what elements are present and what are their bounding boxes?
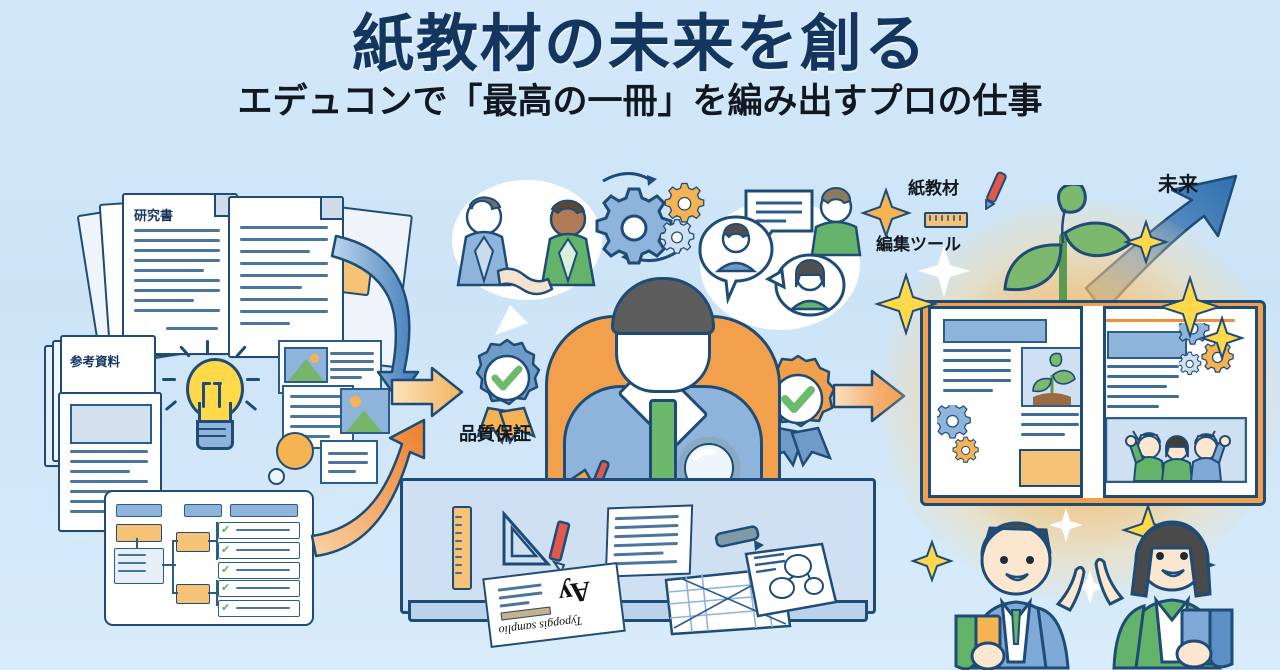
paper-material-label: 紙教材 bbox=[908, 174, 959, 199]
image-placeholder-card bbox=[340, 388, 390, 434]
cheering-students-photo bbox=[1105, 417, 1247, 483]
page-title: 紙教材の未来を創る bbox=[0, 12, 1280, 77]
content-card-bottom bbox=[320, 440, 378, 484]
research-document-label: 研究書 bbox=[134, 205, 173, 224]
orange-dot-small bbox=[268, 468, 285, 485]
open-book-icon bbox=[920, 300, 1260, 500]
student-female-icon bbox=[1090, 494, 1250, 670]
document-sheet-front-2 bbox=[228, 196, 344, 358]
page-subtitle: エデュコンで「最高の一冊」を編み出すプロの仕事 bbox=[0, 83, 1280, 122]
student-male-icon bbox=[940, 498, 1090, 670]
book-page-left bbox=[928, 306, 1094, 498]
lightbulb-icon bbox=[172, 352, 252, 462]
typography-letters: Ay bbox=[557, 574, 593, 610]
book-spine bbox=[1080, 306, 1106, 498]
reference-label: 参考資料 bbox=[70, 351, 120, 370]
pen-icon bbox=[978, 168, 1018, 210]
ruler-icon bbox=[452, 506, 472, 590]
pencil-icon bbox=[540, 518, 584, 572]
curriculum-card: ✔ ✔ ✔ ✔ ✔ bbox=[104, 490, 314, 626]
desk-surface: Ay Typopgis samplio bbox=[400, 478, 870, 653]
future-label: 未来 bbox=[1158, 168, 1198, 197]
typography-sample-paper: Ay Typopgis samplio bbox=[482, 562, 626, 648]
research-document: 研究書 bbox=[122, 193, 238, 355]
header-block: 紙教材の未来を創る エデュコンで「最高の一冊」を編み出すプロの仕事 bbox=[0, 0, 1280, 122]
book-gears-right bbox=[1179, 323, 1255, 405]
yellow-arrow bbox=[392, 368, 462, 416]
book-page-right bbox=[1092, 306, 1258, 498]
quality-assurance-label: 品質保証 bbox=[459, 420, 531, 446]
book-gears-left bbox=[937, 405, 1007, 485]
marker-pen-icon bbox=[710, 522, 770, 558]
page-fold-icon bbox=[320, 198, 342, 220]
editing-tools-label: 編集ツール bbox=[876, 230, 961, 255]
poster-canvas: 紙教材の未来を創る エデュコンで「最高の一冊」を編み出すプロの仕事 研究書 bbox=[0, 0, 1280, 670]
orange-dot-large bbox=[276, 432, 314, 470]
editor-hair bbox=[611, 277, 715, 335]
gears-icon bbox=[585, 165, 705, 285]
ruler-icon-small bbox=[924, 212, 968, 228]
